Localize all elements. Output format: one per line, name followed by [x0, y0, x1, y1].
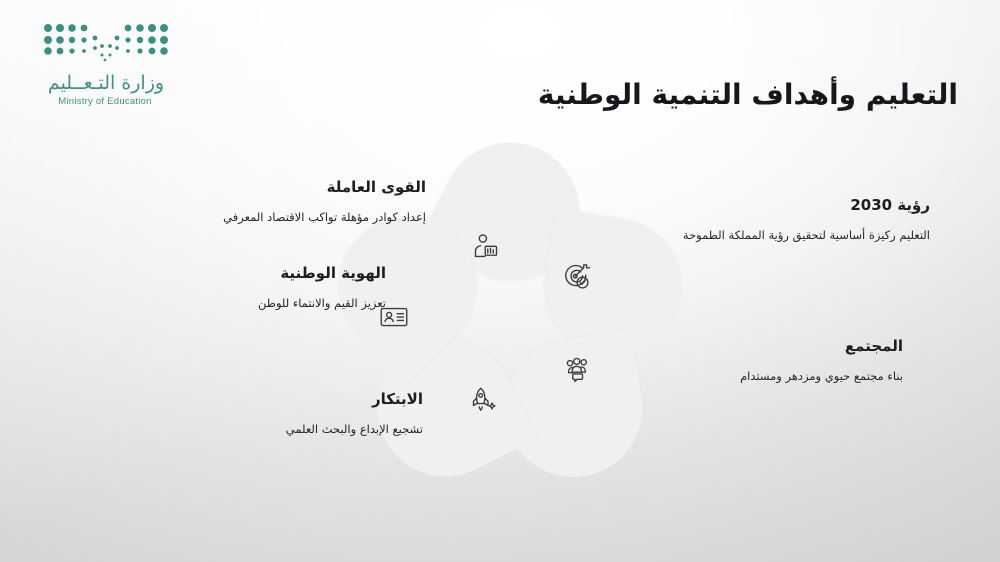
label-community: المجتمع بناء مجتمع حيوي ومزدهر ومستدام [645, 337, 903, 384]
worker-person-icon [469, 230, 503, 264]
label-desc: تعزيز القيم والانتماء للوطن [196, 296, 386, 311]
label-workforce: القوى العاملة إعداد كوادر مؤهلة تواكب ال… [178, 178, 426, 225]
label-vision-2030: رؤية 2030 التعليم ركيزة أساسية لتحقيق رؤ… [645, 196, 930, 243]
logo-arabic-name: وزارة التـعــليم [42, 72, 170, 94]
label-innovation: الابتكار تشجيع الإبداع والبحث العلمي [243, 390, 423, 437]
label-national-identity: الهوية الوطنية تعزيز القيم والانتماء للو… [196, 264, 386, 311]
label-title: رؤية 2030 [645, 196, 930, 215]
label-title: القوى العاملة [178, 178, 426, 197]
target-goal-icon [560, 260, 594, 294]
ministry-logo: وزارة التـعــليم Ministry of Education [22, 22, 170, 107]
logo-english-name: Ministry of Education [40, 96, 170, 107]
rocket-sparkle-icon [467, 383, 501, 417]
label-title: الهوية الوطنية [196, 264, 386, 283]
label-desc: تشجيع الإبداع والبحث العلمي [243, 422, 423, 437]
label-desc: بناء مجتمع حيوي ومزدهر ومستدام [645, 369, 903, 384]
dot-matrix-icon [40, 22, 170, 66]
label-desc: التعليم ركيزة أساسية لتحقيق رؤية المملكة… [645, 228, 930, 243]
page-title: التعليم وأهداف التنمية الوطنية [538, 78, 958, 111]
people-group-icon [560, 353, 594, 387]
label-title: المجتمع [645, 337, 903, 356]
label-desc: إعداد كوادر مؤهلة تواكب الاقتصاد المعرفي [178, 210, 426, 225]
label-title: الابتكار [243, 390, 423, 409]
slide-canvas: وزارة التـعــليم Ministry of Education ا… [0, 0, 1000, 562]
